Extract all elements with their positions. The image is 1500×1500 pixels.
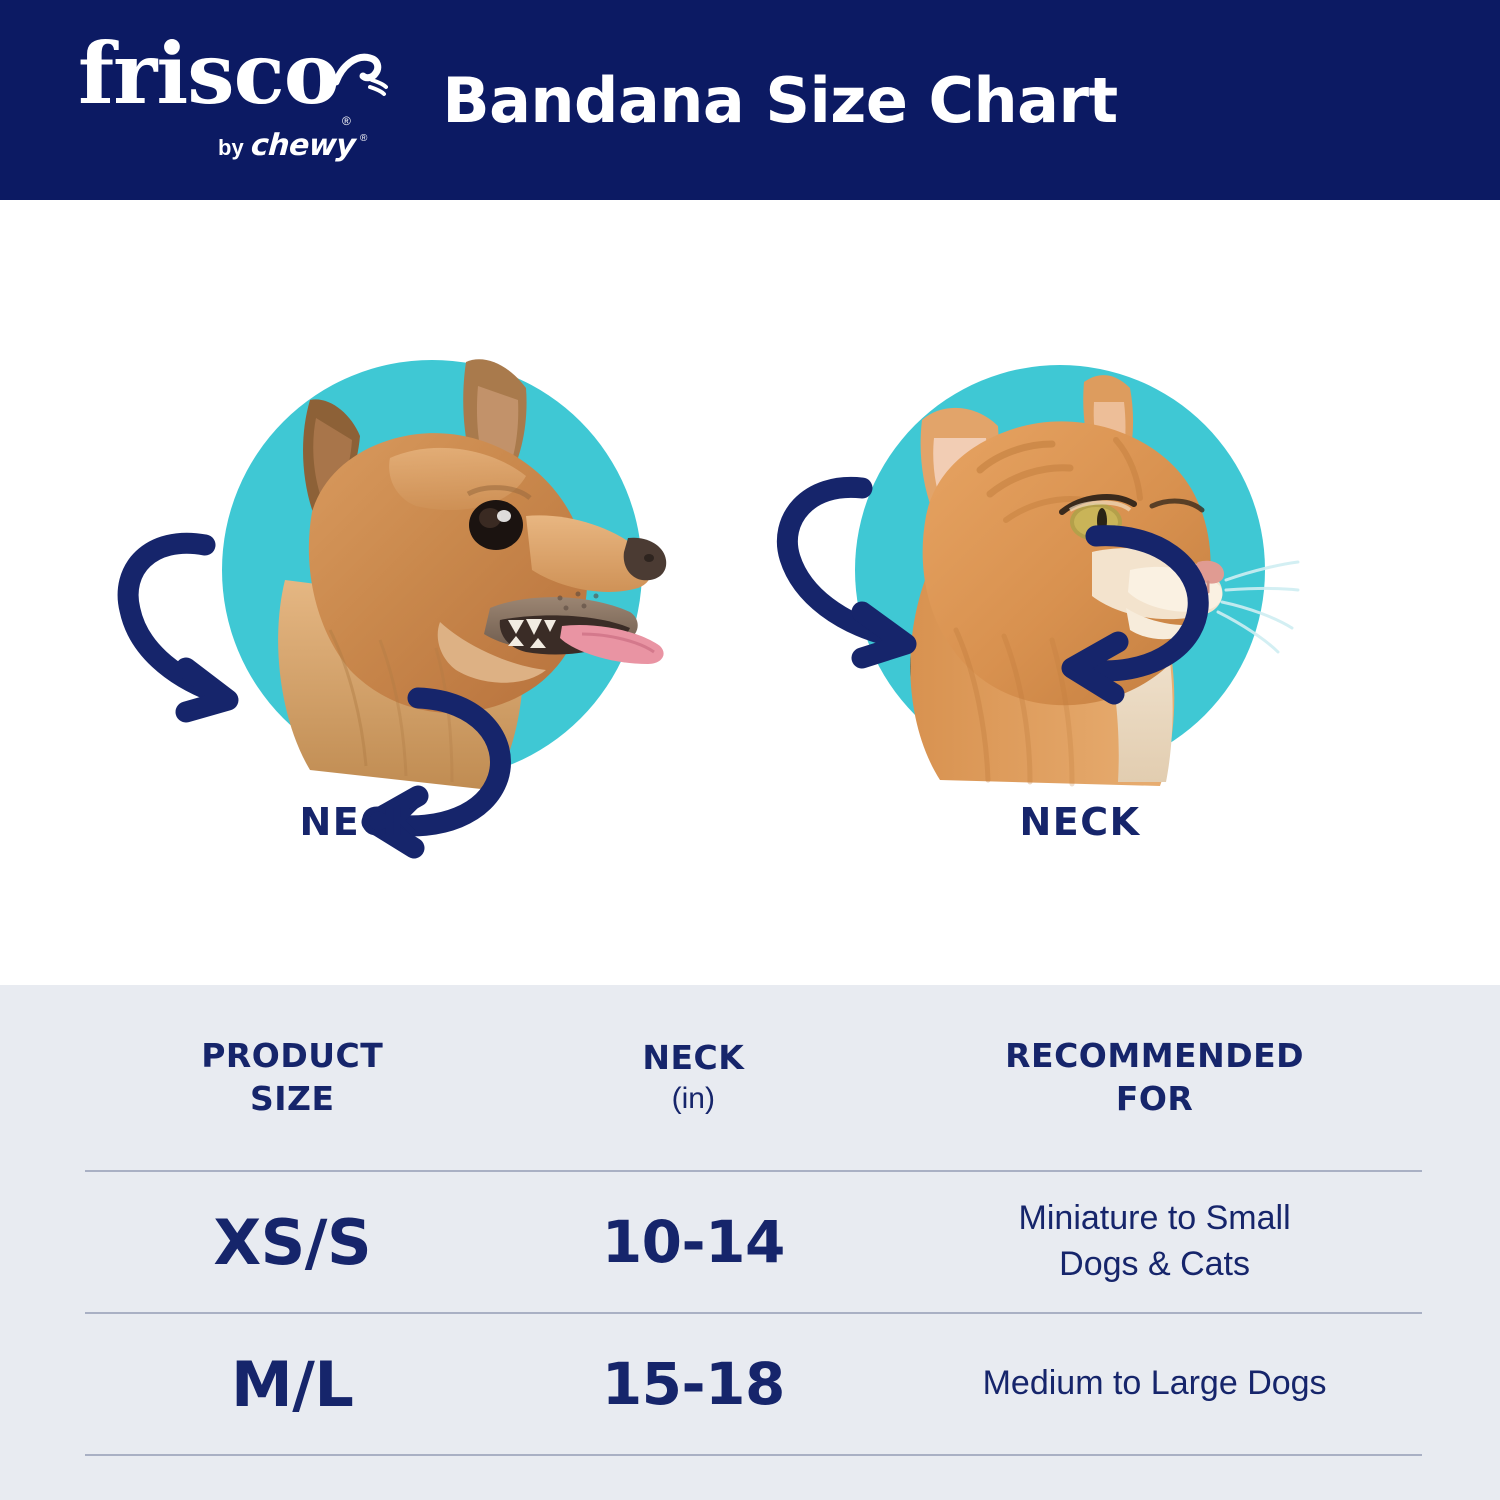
table-inner: PRODUCT SIZE NECK (in) RECOMMENDED FOR X… [85, 985, 1422, 1500]
table-bottom-spacer [85, 1456, 1422, 1500]
size-chart-page: frisco ® by chewy ® Bandana Size Chart [0, 0, 1500, 1500]
table-row: M/L 15-18 Medium to Large Dogs [85, 1314, 1422, 1454]
cat-neck-label: NECK [880, 800, 1280, 844]
row-1-recommended-for: Medium to Large Dogs [887, 1361, 1422, 1407]
column-header-recommended-for-line1: RECOMMENDED [887, 1035, 1422, 1077]
cat-illustration [830, 330, 1300, 800]
column-header-neck-unit: (in) [499, 1079, 887, 1118]
column-header-neck-line1: NECK [499, 1037, 887, 1079]
size-chart-table: PRODUCT SIZE NECK (in) RECOMMENDED FOR X… [0, 985, 1500, 1500]
page-title: Bandana Size Chart [0, 0, 1500, 200]
column-header-recommended-for-line2: FOR [887, 1078, 1422, 1120]
column-header-product-size: PRODUCT SIZE [85, 1035, 499, 1119]
row-0-recommended-for: Miniature to Small Dogs & Cats [887, 1196, 1422, 1288]
row-1-recommended-for-line1: Medium to Large Dogs [887, 1361, 1422, 1407]
row-1-product-size: M/L [85, 1348, 499, 1421]
row-1-neck: 15-18 [499, 1350, 887, 1418]
cat-measurement-panel: NECK [750, 200, 1500, 985]
illustration-area: NECK [0, 200, 1500, 985]
column-header-product-size-line2: SIZE [85, 1078, 499, 1120]
dog-measurement-panel: NECK [0, 200, 750, 985]
row-0-recommended-for-line1: Miniature to Small [887, 1196, 1422, 1242]
column-header-neck: NECK (in) [499, 1037, 887, 1118]
row-0-product-size: XS/S [85, 1206, 499, 1279]
row-0-neck: 10-14 [499, 1208, 887, 1276]
table-row: XS/S 10-14 Miniature to Small Dogs & Cat… [85, 1172, 1422, 1312]
dog-illustration [190, 330, 690, 810]
column-header-recommended-for: RECOMMENDED FOR [887, 1035, 1422, 1119]
table-header-row: PRODUCT SIZE NECK (in) RECOMMENDED FOR [85, 985, 1422, 1170]
row-0-recommended-for-line2: Dogs & Cats [887, 1242, 1422, 1288]
header-bar: frisco ® by chewy ® Bandana Size Chart [0, 0, 1500, 200]
column-header-product-size-line1: PRODUCT [85, 1035, 499, 1077]
dog-neck-label: NECK [160, 800, 560, 844]
